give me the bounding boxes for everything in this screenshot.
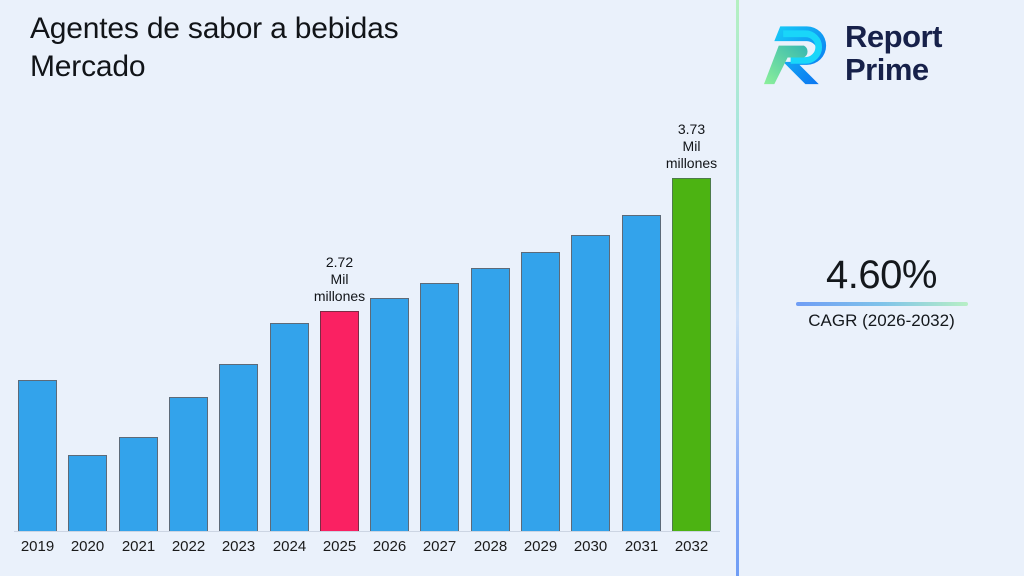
cagr-divider-rule: [796, 302, 968, 306]
slide-root: Agentes de sabor a bebidas Mercado 2.72M…: [0, 0, 1024, 576]
bar-2029: [521, 252, 560, 531]
bar-value-label-2025: 2.72Milmillones: [285, 254, 395, 305]
brand-logo-block: Report Prime: [761, 10, 1011, 96]
cagr-value: 4.60%: [739, 252, 1024, 298]
bar-value-unit1-2025: Mil: [285, 271, 395, 288]
bar-value-label-2032: 3.73Milmillones: [637, 121, 747, 172]
cagr-caption: CAGR (2026-2032): [739, 310, 1024, 332]
bar-2020: [68, 455, 107, 531]
info-panel: Report Prime 4.60% CAGR (2026-2032): [739, 0, 1024, 576]
report-prime-logo-icon: [761, 16, 835, 90]
bar-chart-plot: 2.72Milmillones3.73Milmillones 201920202…: [0, 0, 736, 536]
bar-2028: [471, 268, 510, 531]
bar-2026: [370, 298, 409, 531]
bar-2025: [320, 311, 359, 531]
bar-value-number-2025: 2.72: [285, 254, 395, 271]
brand-name: Report Prime: [845, 20, 942, 86]
bar-value-unit2-2025: millones: [285, 288, 395, 305]
bar-2027: [420, 283, 459, 531]
bar-2031: [622, 215, 661, 531]
bar-value-unit2-2032: millones: [637, 155, 747, 172]
brand-name-line1: Report: [845, 19, 942, 54]
bar-2032: [672, 178, 711, 531]
bar-2024: [270, 323, 309, 531]
chart-baseline: [14, 531, 720, 532]
x-tick-2032: 2032: [662, 538, 722, 555]
bar-2019: [18, 380, 57, 531]
bar-2023: [219, 364, 258, 531]
bar-2030: [571, 235, 610, 531]
chart-panel: Agentes de sabor a bebidas Mercado 2.72M…: [0, 0, 736, 576]
bar-2022: [169, 397, 208, 531]
bar-value-number-2032: 3.73: [637, 121, 747, 138]
bar-2021: [119, 437, 158, 531]
cagr-block: 4.60% CAGR (2026-2032): [739, 252, 1024, 332]
bar-value-unit1-2032: Mil: [637, 138, 747, 155]
brand-name-line2: Prime: [845, 52, 929, 87]
